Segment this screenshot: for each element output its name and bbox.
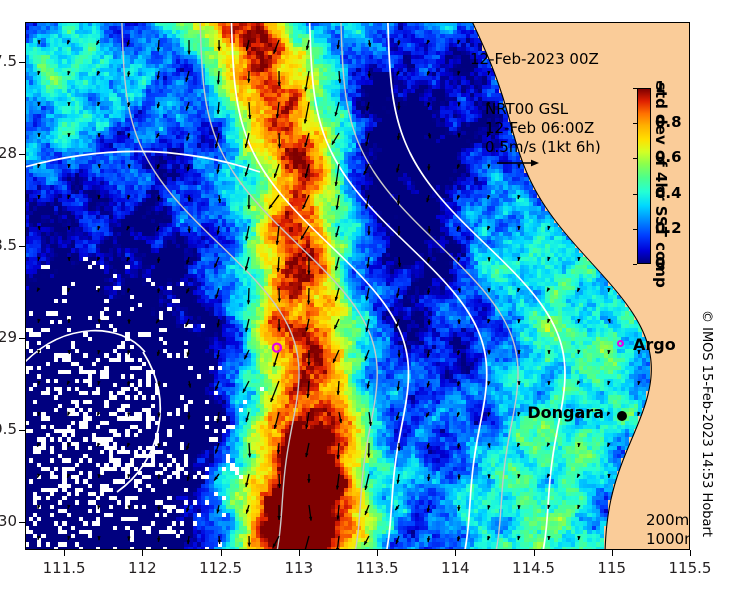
x-tick <box>534 550 535 556</box>
bathy-200m-label: 200m <box>646 511 690 530</box>
dongara-station-marker-icon <box>617 411 627 421</box>
colorbar-tick <box>633 88 637 89</box>
colorbar-tick <box>633 264 637 265</box>
date-annotation: 12-Feb-2023 00Z <box>470 50 599 68</box>
x-tick-label: 113.5 <box>342 559 412 577</box>
x-tick <box>299 550 300 556</box>
x-tick <box>455 550 456 556</box>
dongara-label: Dongara <box>527 403 604 422</box>
x-tick <box>142 550 143 556</box>
x-tick <box>221 550 222 556</box>
y-tick <box>19 62 25 63</box>
bathymetry-legend: 200m 1000m <box>646 511 690 549</box>
colorbar-tick-label: 0.2 <box>655 219 682 237</box>
copyright-text: © IMOS 15-Feb-2023 14:53 Hobart <box>699 310 714 537</box>
source-line-2: 12-Feb 06:00Z <box>485 119 601 138</box>
source-line-1: NRT00 GSL <box>485 100 601 119</box>
x-tick <box>377 550 378 556</box>
y-tick-label: -27.5 <box>0 52 17 70</box>
y-tick <box>19 246 25 247</box>
bathy-1000m-label: 1000m <box>646 530 690 549</box>
x-tick-label: 111.5 <box>29 559 99 577</box>
colorbar-tick-label: 0.4 <box>655 184 682 202</box>
y-tick <box>19 154 25 155</box>
x-tick <box>612 550 613 556</box>
x-tick <box>64 550 65 556</box>
x-tick-label: 114.5 <box>499 559 569 577</box>
colorbar-tick <box>633 158 637 159</box>
colorbar-tick-label: 0 <box>655 254 665 272</box>
sst-map-figure: 12-Feb-2023 00Z NRT00 GSL 12-Feb 06:00Z … <box>0 0 740 592</box>
map-plot-area[interactable]: 12-Feb-2023 00Z NRT00 GSL 12-Feb 06:00Z … <box>25 22 690 550</box>
velocity-scale-arrow-icon <box>497 158 539 168</box>
y-tick-label: -29.5 <box>0 420 17 438</box>
y-tick-label: -30 <box>0 512 17 530</box>
argo-marker-icon <box>617 340 624 347</box>
x-tick-label: 115.5 <box>655 559 725 577</box>
colorbar-tick-label: 1 <box>655 78 665 96</box>
colorbar-tick-label: 0.8 <box>655 113 682 131</box>
x-tick-label: 112.5 <box>186 559 256 577</box>
y-tick-label: -29 <box>0 328 17 346</box>
colorbar-tick <box>633 229 637 230</box>
colorbar-tick <box>633 123 637 124</box>
source-line-3: 0.5m/s (1kt 6h) <box>485 138 601 157</box>
y-tick <box>19 522 25 523</box>
x-tick <box>690 550 691 556</box>
y-tick <box>19 338 25 339</box>
y-tick-label: -28.5 <box>0 236 17 254</box>
x-tick-label: 114 <box>420 559 490 577</box>
colorbar-tick <box>633 194 637 195</box>
colorbar-tick-label: 0.6 <box>655 148 682 166</box>
x-tick-label: 112 <box>107 559 177 577</box>
colorbar <box>637 88 651 264</box>
argo-legend-label: Argo <box>633 335 676 354</box>
y-tick <box>19 430 25 431</box>
x-tick-label: 115 <box>577 559 647 577</box>
colorbar-title: std dev of 4hr SST comp <box>652 82 670 272</box>
y-tick-label: -28 <box>0 144 17 162</box>
x-tick-label: 113 <box>264 559 334 577</box>
source-annotation: NRT00 GSL 12-Feb 06:00Z 0.5m/s (1kt 6h) <box>485 100 601 157</box>
